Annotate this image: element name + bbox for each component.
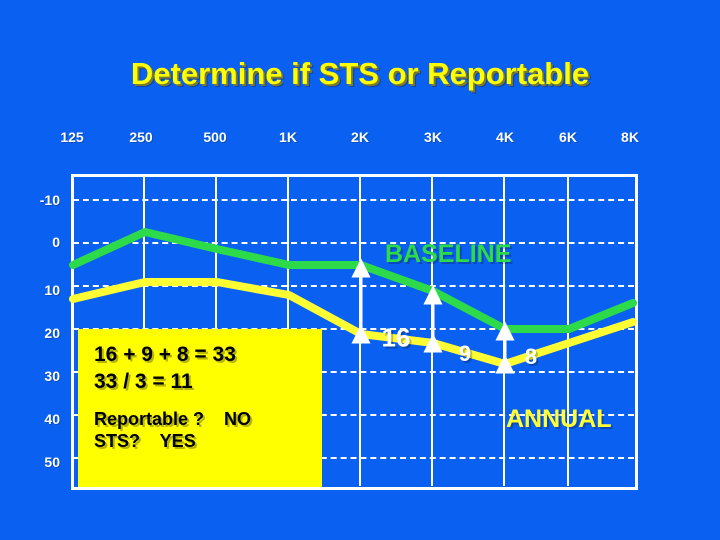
series-label-annual: ANNUAL — [506, 405, 612, 434]
hgrid-10 — [73, 285, 634, 287]
freq-label-8k: 8K — [621, 129, 639, 145]
level-label-50: 50 — [14, 454, 60, 470]
callout-line-reportable: Reportable ? NO — [94, 408, 308, 431]
slide-canvas: Determine if STS or Reportable 125 250 5… — [0, 0, 720, 540]
freq-label-6k: 6K — [559, 129, 577, 145]
callout-line-sum: 16 + 9 + 8 = 33 — [94, 341, 308, 368]
freq-label-2k: 2K — [351, 129, 369, 145]
freq-label-125: 125 — [60, 129, 83, 145]
level-label-20: 20 — [14, 325, 60, 341]
diff-value-3k: 9 — [459, 341, 471, 367]
freq-label-4k: 4K — [496, 129, 514, 145]
vgrid-2k — [359, 176, 361, 486]
freq-label-500: 500 — [203, 129, 226, 145]
hgrid-0 — [73, 242, 634, 244]
level-label-0: 0 — [14, 234, 60, 250]
callout-line-sts: STS? YES — [94, 430, 308, 453]
calculation-callout-box: 16 + 9 + 8 = 33 33 / 3 = 11 Reportable ?… — [78, 329, 322, 487]
level-label-10: 10 — [14, 282, 60, 298]
vgrid-3k — [431, 176, 433, 486]
vgrid-6k — [567, 176, 569, 486]
vgrid-4k — [503, 176, 505, 486]
hgrid-minus10 — [73, 199, 634, 201]
callout-line-average: 33 / 3 = 11 — [94, 368, 308, 395]
level-label-minus10: -10 — [14, 192, 60, 208]
level-label-30: 30 — [14, 368, 60, 384]
diff-value-4k: 8 — [525, 344, 537, 370]
series-label-baseline: BASELINE — [385, 240, 511, 269]
level-label-40: 40 — [14, 411, 60, 427]
freq-label-250: 250 — [129, 129, 152, 145]
callout-spacer — [94, 396, 308, 408]
freq-label-3k: 3K — [424, 129, 442, 145]
page-title: Determine if STS or Reportable — [0, 56, 720, 92]
diff-value-2k: 16 — [382, 323, 411, 354]
freq-label-1k: 1K — [279, 129, 297, 145]
